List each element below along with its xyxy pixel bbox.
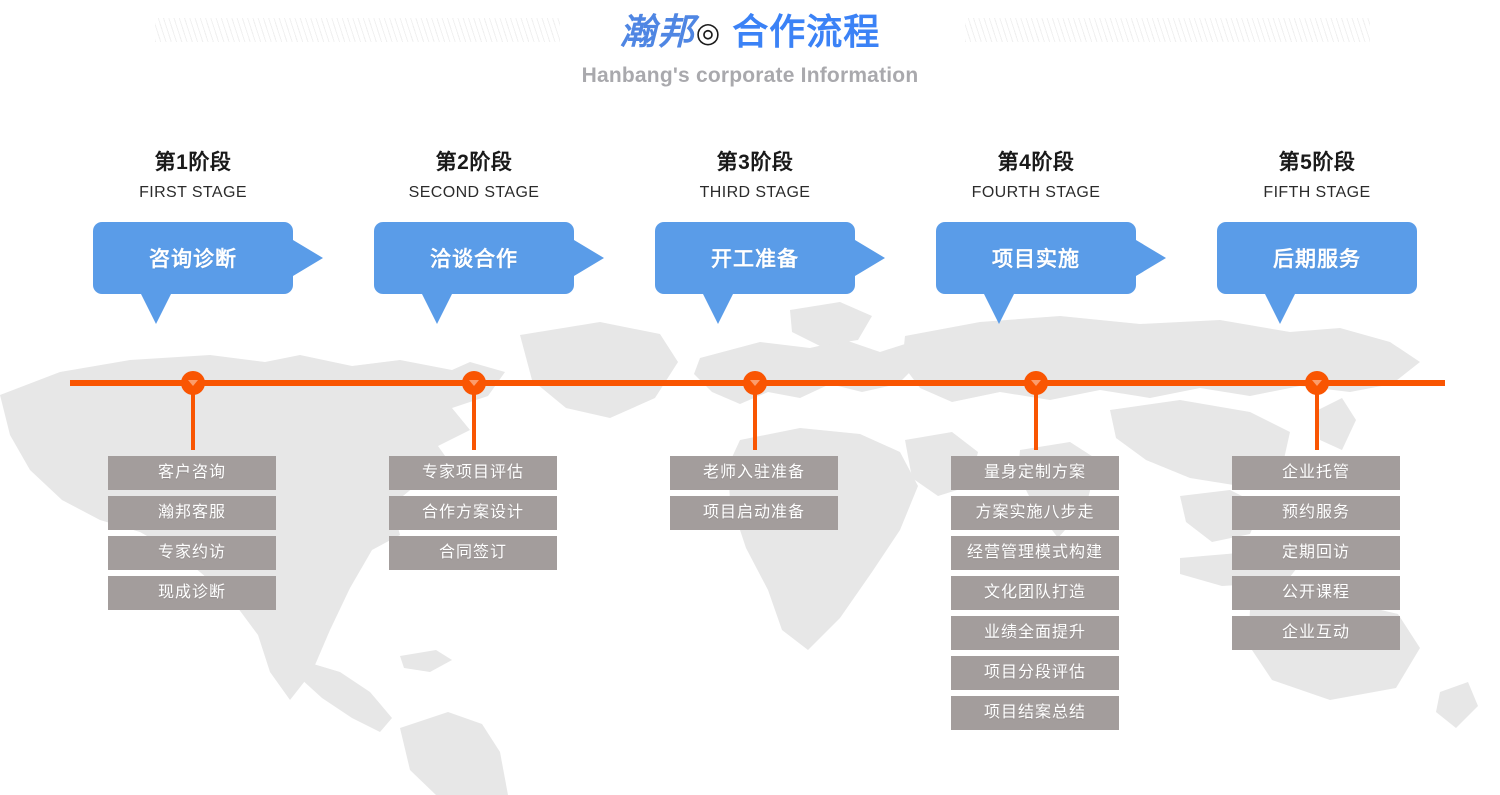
stage-1-item[interactable]: 客户咨询	[108, 456, 276, 490]
stage-1-next-arrow-icon	[293, 240, 323, 276]
stage-2-title-en: SECOND STAGE	[334, 176, 614, 204]
stage-3: 第3阶段 THIRD STAGE 开工准备	[615, 150, 895, 352]
stage-1-item[interactable]: 专家约访	[108, 536, 276, 570]
stage-2-item[interactable]: 合同签订	[389, 536, 557, 570]
stage-2: 第2阶段 SECOND STAGE 洽谈合作	[334, 150, 614, 352]
stage-3-item[interactable]: 项目启动准备	[670, 496, 838, 530]
stage-2-bubble-tail-icon	[421, 292, 453, 324]
stage-2-item[interactable]: 专家项目评估	[389, 456, 557, 490]
stage-5-bubble[interactable]: 后期服务	[1217, 222, 1417, 294]
stage-5-item[interactable]: 企业互动	[1232, 616, 1400, 650]
stage-5-item[interactable]: 公开课程	[1232, 576, 1400, 610]
stage-3-item[interactable]: 老师入驻准备	[670, 456, 838, 490]
page-title-text: 合作流程	[732, 11, 880, 52]
brand-name-cn: 瀚邦	[620, 11, 696, 53]
stage-4-title-cn: 第4阶段	[896, 150, 1176, 176]
stage-4-items: 量身定制方案方案实施八步走经营管理模式构建文化团队打造业绩全面提升项目分段评估项…	[951, 456, 1119, 730]
stage-4-next-arrow-icon	[1136, 240, 1166, 276]
stage-5-bubble-wrap: 后期服务	[1177, 222, 1457, 352]
stage-2-next-arrow-icon	[574, 240, 604, 276]
stage-1-title-cn: 第1阶段	[53, 150, 333, 176]
stage-2-item[interactable]: 合作方案设计	[389, 496, 557, 530]
stage-1: 第1阶段 FIRST STAGE 咨询诊断	[53, 150, 333, 352]
stage-5-bubble-tail-icon	[1264, 292, 1296, 324]
stage-2-bubble[interactable]: 洽谈合作	[374, 222, 574, 294]
stage-3-bubble[interactable]: 开工准备	[655, 222, 855, 294]
stage-3-bubble-wrap: 开工准备	[615, 222, 895, 352]
stage-1-bubble-label: 咨询诊断	[149, 243, 237, 273]
stage-5-item[interactable]: 企业托管	[1232, 456, 1400, 490]
stage-2-bubble-wrap: 洽谈合作	[334, 222, 614, 352]
stage-5-title-en: FIFTH STAGE	[1177, 176, 1457, 204]
stage-5-items: 企业托管预约服务定期回访公开课程企业互动	[1232, 456, 1400, 650]
logo-mark-icon: ◎	[696, 10, 721, 56]
stage-4-title-en: FOURTH STAGE	[896, 176, 1176, 204]
page-subtitle: Hanbang's corporate Information	[0, 56, 1500, 88]
stage-1-bubble-tail-icon	[140, 292, 172, 324]
stage-1-items: 客户咨询瀚邦客服专家约访现成诊断	[108, 456, 276, 610]
stage-4-item[interactable]: 经营管理模式构建	[951, 536, 1119, 570]
stage-5-item[interactable]: 预约服务	[1232, 496, 1400, 530]
stage-4-bubble[interactable]: 项目实施	[936, 222, 1136, 294]
timeline-dot-stage-3[interactable]	[743, 371, 767, 395]
timeline-dot-stage-2[interactable]	[462, 371, 486, 395]
stage-2-title-cn: 第2阶段	[334, 150, 614, 176]
stage-1-title-en: FIRST STAGE	[53, 176, 333, 204]
stage-1-item[interactable]: 瀚邦客服	[108, 496, 276, 530]
stage-4-item[interactable]: 业绩全面提升	[951, 616, 1119, 650]
timeline-dot-stage-5[interactable]	[1305, 371, 1329, 395]
stage-3-title-en: THIRD STAGE	[615, 176, 895, 204]
stage-1-bubble-wrap: 咨询诊断	[53, 222, 333, 352]
stage-3-items: 老师入驻准备项目启动准备	[670, 456, 838, 530]
stage-3-title-cn: 第3阶段	[615, 150, 895, 176]
stage-5-bubble-label: 后期服务	[1273, 243, 1361, 273]
stage-4: 第4阶段 FOURTH STAGE 项目实施	[896, 150, 1176, 352]
stage-4-bubble-tail-icon	[983, 292, 1015, 324]
stage-4-bubble-wrap: 项目实施	[896, 222, 1176, 352]
stage-4-item[interactable]: 项目分段评估	[951, 656, 1119, 690]
timeline-dot-stage-4[interactable]	[1024, 371, 1048, 395]
stage-4-item[interactable]: 量身定制方案	[951, 456, 1119, 490]
stage-4-item[interactable]: 方案实施八步走	[951, 496, 1119, 530]
stage-2-items: 专家项目评估合作方案设计合同签订	[389, 456, 557, 570]
page-header: 瀚邦◎ 合作流程 Hanbang's corporate Information	[0, 0, 1500, 88]
stage-3-bubble-label: 开工准备	[711, 243, 799, 273]
stage-5-title-cn: 第5阶段	[1177, 150, 1457, 176]
stage-4-item[interactable]: 项目结案总结	[951, 696, 1119, 730]
timeline-dot-stage-1[interactable]	[181, 371, 205, 395]
stage-1-bubble[interactable]: 咨询诊断	[93, 222, 293, 294]
stage-5: 第5阶段 FIFTH STAGE 后期服务	[1177, 150, 1457, 352]
stage-4-item[interactable]: 文化团队打造	[951, 576, 1119, 610]
stage-3-bubble-tail-icon	[702, 292, 734, 324]
stage-5-item[interactable]: 定期回访	[1232, 536, 1400, 570]
stage-4-bubble-label: 项目实施	[992, 243, 1080, 273]
stage-3-next-arrow-icon	[855, 240, 885, 276]
stage-2-bubble-label: 洽谈合作	[430, 243, 518, 273]
page-title: 瀚邦◎ 合作流程	[0, 0, 1500, 56]
stage-1-item[interactable]: 现成诊断	[108, 576, 276, 610]
